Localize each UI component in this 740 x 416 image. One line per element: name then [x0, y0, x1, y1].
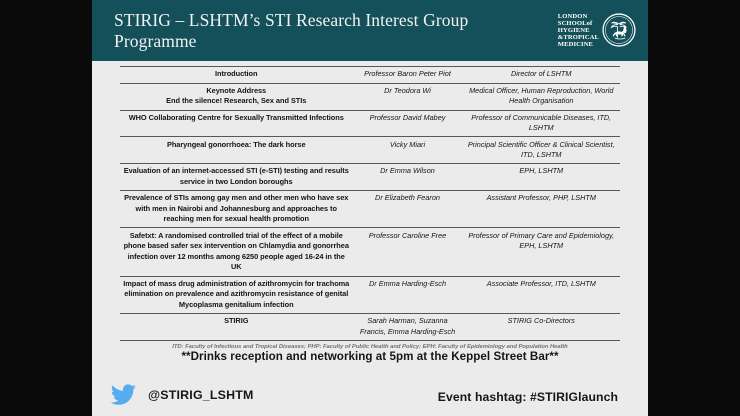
logo-line-2: SCHOOLof [558, 20, 599, 27]
session-speaker: Dr Emma Wilson [353, 163, 463, 190]
session-title: Pharyngeal gonorrhoea: The dark horse [120, 137, 353, 164]
slide-header: STIRIG – LSHTM’s STI Research Interest G… [92, 0, 648, 61]
table-row: Evaluation of an internet-accessed STI (… [120, 163, 620, 190]
table-row: Prevalence of STIs among gay men and oth… [120, 190, 620, 228]
lshtm-logo: LONDON SCHOOLof HYGIENE &TROPICAL MEDICI… [558, 13, 640, 48]
logo-line-4: &TROPICAL [558, 34, 599, 41]
slide-footer: @STIRIG_LSHTM Event hashtag: #STIRIGlaun… [92, 371, 648, 416]
session-role: Principal Scientific Officer & Clinical … [463, 137, 621, 164]
table-row: Safetxt: A randomised controlled trial o… [120, 228, 620, 276]
table-row: Keynote AddressEnd the silence! Research… [120, 83, 620, 110]
table-row: WHO Collaborating Centre for Sexually Tr… [120, 110, 620, 137]
lshtm-seal-icon [602, 13, 636, 47]
table-row: STIRIGSarah Harman, Suzanna Francis, Emm… [120, 314, 620, 341]
session-speaker: Sarah Harman, Suzanna Francis, Emma Hard… [353, 314, 463, 341]
session-title: Impact of mass drug administration of az… [120, 276, 353, 314]
session-title: Evaluation of an internet-accessed STI (… [120, 163, 353, 190]
session-role: Associate Professor, ITD, LSHTM [463, 276, 621, 314]
session-speaker: Dr Elizabeth Fearon [353, 190, 463, 228]
session-speaker: Professor David Mabey [353, 110, 463, 137]
session-speaker: Dr Emma Harding-Esch [353, 276, 463, 314]
session-title: WHO Collaborating Centre for Sexually Tr… [120, 110, 353, 137]
slide-viewer: STIRIG – LSHTM’s STI Research Interest G… [0, 0, 740, 416]
event-hashtag: Event hashtag: #STIRIGlaunch [438, 390, 618, 404]
session-role: Professor of Communicable Diseases, ITD,… [463, 110, 621, 137]
session-speaker: Professor Baron Peter Piot [353, 67, 463, 84]
session-speaker: Dr Teodora Wi [353, 83, 463, 110]
twitter-handle-text: @STIRIG_LSHTM [148, 388, 254, 402]
session-role: Medical Officer, Human Reproduction, Wor… [463, 83, 621, 110]
session-speaker: Vicky Miari [353, 137, 463, 164]
logo-line-3: HYGIENE [558, 27, 599, 34]
logo-line-5: MEDICINE [558, 41, 599, 48]
page-title: STIRIG – LSHTM’s STI Research Interest G… [114, 10, 558, 51]
session-title: STIRIG [120, 314, 353, 341]
session-role: Assistant Professor, PHP, LSHTM [463, 190, 621, 228]
drinks-reception-note: **Drinks reception and networking at 5pm… [92, 350, 648, 371]
table-row: Pharyngeal gonorrhoea: The dark horseVic… [120, 137, 620, 164]
logo-line-1: LONDON [558, 13, 599, 20]
session-role: Professor of Primary Care and Epidemiolo… [463, 228, 621, 276]
programme-table-container: IntroductionProfessor Baron Peter PiotDi… [92, 61, 648, 350]
lshtm-wordmark: LONDON SCHOOLof HYGIENE &TROPICAL MEDICI… [558, 13, 599, 48]
session-role: STIRIG Co-Directors [463, 314, 621, 341]
programme-table: IntroductionProfessor Baron Peter PiotDi… [120, 66, 620, 341]
table-footnote: ITD: Faculty of Infectious and Tropical … [120, 341, 620, 351]
programme-table-body: IntroductionProfessor Baron Peter PiotDi… [120, 67, 620, 341]
twitter-handle-block[interactable]: @STIRIG_LSHTM [110, 384, 254, 407]
presentation-slide: STIRIG – LSHTM’s STI Research Interest G… [92, 0, 648, 416]
session-title: Keynote AddressEnd the silence! Research… [120, 83, 353, 110]
session-role: EPH, LSHTM [463, 163, 621, 190]
session-speaker: Professor Caroline Free [353, 228, 463, 276]
table-row: IntroductionProfessor Baron Peter PiotDi… [120, 67, 620, 84]
session-title: Safetxt: A randomised controlled trial o… [120, 228, 353, 276]
table-row: Impact of mass drug administration of az… [120, 276, 620, 314]
session-title: Prevalence of STIs among gay men and oth… [120, 190, 353, 228]
twitter-bird-icon[interactable] [110, 384, 137, 407]
session-role: Director of LSHTM [463, 67, 621, 84]
session-title: Introduction [120, 67, 353, 84]
